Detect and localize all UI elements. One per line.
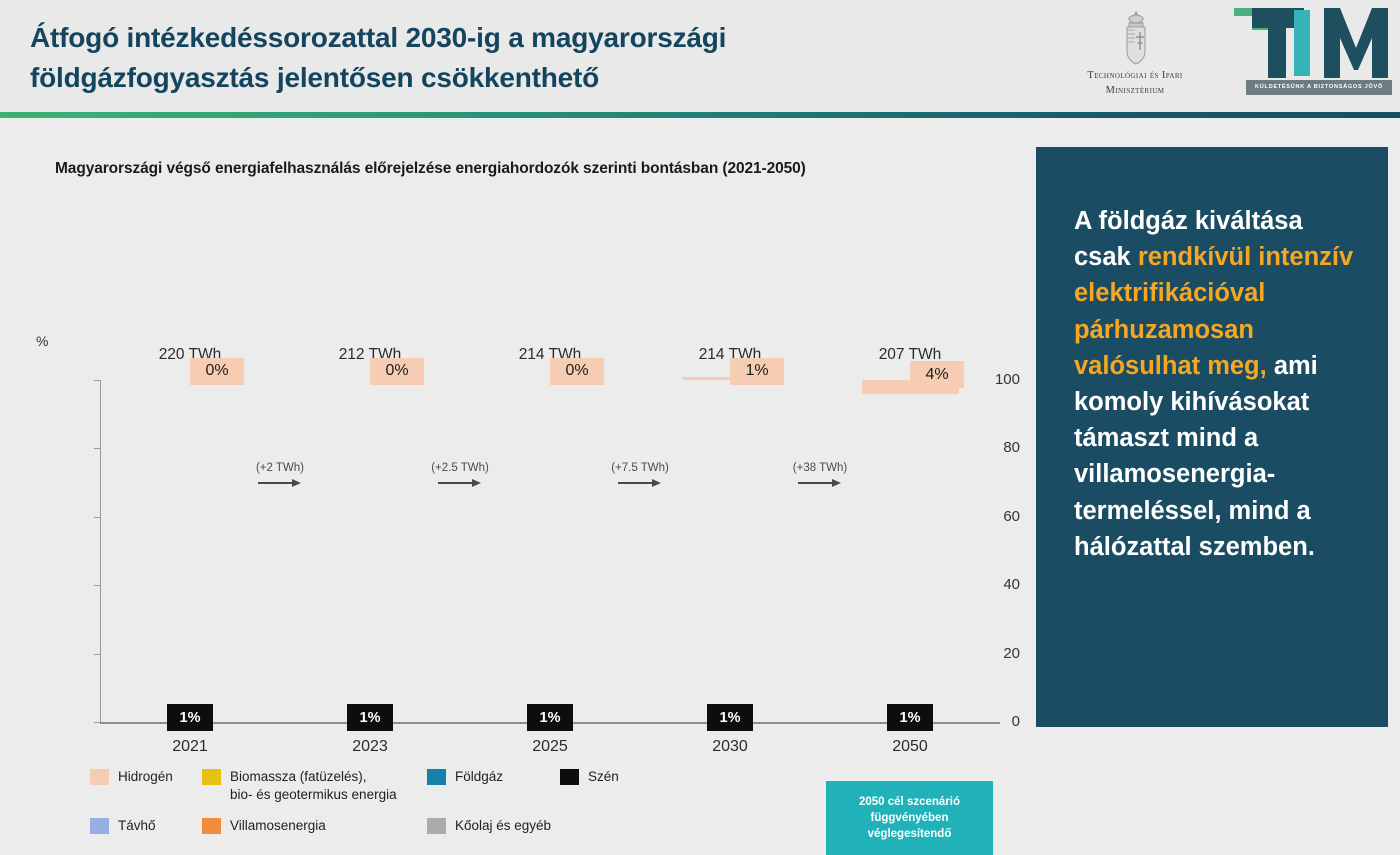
chart-panel: Magyarországi végső energiafelhasználás … [0,130,1020,747]
y-axis-tick-mark [94,585,100,586]
arrow-right-icon [798,478,842,488]
legend-swatch [202,769,221,785]
legend-label: Földgáz [455,768,503,786]
legend-item[interactable]: Földgáz [427,768,503,786]
legend-swatch [427,769,446,785]
y-axis-tick-mark [94,380,100,381]
delta-label: (+38 TWh) [775,462,865,474]
y-axis-tick-label: 60 [974,508,1020,525]
hydrogen-callout: 0% [550,358,604,385]
legend-label: Villamosenergia [230,817,326,835]
coal-value-chip: 1% [527,704,573,731]
takeaway-text-part2: ami komoly kihívásokat támaszt mind a vi… [1074,352,1318,561]
page-title: Átfogó intézkedéssorozattal 2030-ig a ma… [30,18,930,98]
x-axis-label-2025: 2025 [460,738,640,756]
y-axis-tick-mark [94,654,100,655]
legend-item[interactable]: Hidrogén [90,768,173,786]
arrow-right-icon [618,478,662,488]
legend-swatch [427,818,446,834]
y-axis-tick-mark [94,448,100,449]
ministry-name-line1: Technológiai és Ipari [1050,68,1220,83]
tim-logo: KÜLDETÉSÜNK A BIZTONSÁGOS JÖVŐ [1232,4,1392,102]
legend-label: Szén [588,768,619,786]
legend-label: Hidrogén [118,768,173,786]
legend-swatch [90,818,109,834]
legend-item[interactable]: Távhő [90,817,156,835]
tim-tagline: KÜLDETÉSÜNK A BIZTONSÁGOS JÖVŐ [1246,80,1392,95]
legend-label: Távhő [118,817,156,835]
hungarian-coat-of-arms-icon [1114,10,1158,66]
x-axis-label-2021: 2021 [100,738,280,756]
slide-header: Átfogó intézkedéssorozattal 2030-ig a ma… [0,0,1400,112]
arrow-right-icon [438,478,482,488]
bar-column-2050[interactable]: 207 TWh1%4% [862,380,959,722]
legend-swatch [90,769,109,785]
legend-swatch [560,769,579,785]
hydrogen-callout: 4% [910,361,964,388]
delta-annotation: (+38 TWh) [775,462,865,488]
ministry-logo: Technológiai és Ipari Minisztérium [1050,8,1220,104]
scenario-note-badge: 2050 cél szcenárió függvényében végleges… [826,781,993,855]
y-axis-tick-label: 80 [974,439,1020,456]
y-axis-tick-label: 100 [974,371,1020,388]
hydrogen-callout: 0% [370,358,424,385]
delta-annotation: (+7.5 TWh) [595,462,685,488]
y-axis-tick-mark [94,517,100,518]
bar-column-2025[interactable]: 214 TWh1%0% [502,380,599,722]
takeaway-panel: A földgáz kiváltása csak rendkívül inten… [1036,147,1388,727]
tim-logo-mark [1232,4,1392,82]
x-axis-label-2023: 2023 [280,738,460,756]
legend-label: Kőolaj és egyéb [455,817,551,835]
bar-column-2023[interactable]: 212 TWh1%0% [322,380,419,722]
y-axis-line [100,380,101,722]
legend-item[interactable]: Biomassza (fatüzelés), bio- és geotermik… [202,768,397,803]
y-axis-tick-mark [94,722,100,723]
legend-item[interactable]: Szén [560,768,619,786]
coal-value-chip: 1% [887,704,933,731]
delta-label: (+7.5 TWh) [595,462,685,474]
x-axis-label-2050: 2050 [820,738,1000,756]
delta-annotation: (+2.5 TWh) [415,462,505,488]
legend-item[interactable]: Kőolaj és egyéb [427,817,551,835]
bar-column-2030[interactable]: 214 TWh1%1% [682,380,779,722]
y-axis-tick-label: 0 [974,713,1020,730]
bar-column-2021[interactable]: 220 TWh1%0% [142,380,239,722]
arrow-right-icon [258,478,302,488]
coal-value-chip: 1% [167,704,213,731]
ministry-name-line2: Minisztérium [1050,83,1220,98]
legend-swatch [202,818,221,834]
hydrogen-callout: 1% [730,358,784,385]
page-title-line1: Átfogó intézkedéssorozattal 2030-ig a ma… [30,18,930,58]
y-axis-tick-label: 40 [974,576,1020,593]
delta-annotation: (+2 TWh) [235,462,325,488]
coal-value-chip: 1% [347,704,393,731]
header-divider [0,112,1400,118]
page-title-line2: földgázfogyasztás jelentősen csökkenthet… [30,58,930,98]
delta-label: (+2 TWh) [235,462,325,474]
ministry-name: Technológiai és Ipari Minisztérium [1050,68,1220,98]
delta-label: (+2.5 TWh) [415,462,505,474]
legend-label: Biomassza (fatüzelés), bio- és geotermik… [230,768,397,803]
y-axis-tick-label: 20 [974,645,1020,662]
coal-value-chip: 1% [707,704,753,731]
legend-item[interactable]: Villamosenergia [202,817,326,835]
x-axis-label-2030: 2030 [640,738,820,756]
stacked-bar-chart: 020406080100220 TWh1%0%2021212 TWh1%0%20… [0,130,1020,747]
hydrogen-callout: 0% [190,358,244,385]
takeaway-text: A földgáz kiváltása csak rendkívül inten… [1074,203,1364,565]
